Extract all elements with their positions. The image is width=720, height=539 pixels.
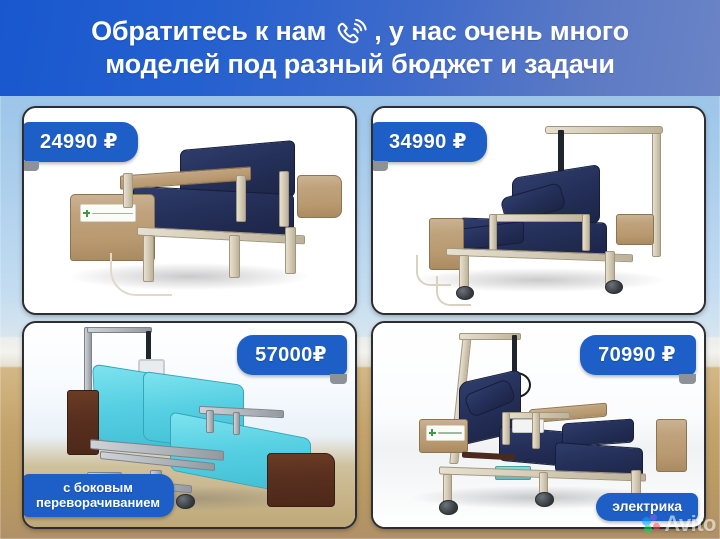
- product-card-bed-70990[interactable]: 70990 ₽ электрика: [371, 321, 706, 530]
- product-grid: 24990 ₽: [0, 96, 720, 539]
- price-tag-1: 24990 ₽: [22, 122, 138, 162]
- avito-wordmark: Avito: [664, 511, 716, 537]
- banner-line-2: моделей под разный бюджет и задачи: [10, 48, 710, 81]
- banner-text-before-icon: Обратитесь к нам: [91, 15, 326, 48]
- product-card-bed-57000[interactable]: 57000₽ с боковым переворачиванием: [22, 321, 357, 530]
- feature-caption-3: с боковым переворачиванием: [22, 474, 174, 517]
- banner-text-after-icon: , у нас очень много: [374, 15, 629, 48]
- banner-line-1: Обратитесь к нам , у нас очень много: [10, 15, 710, 48]
- avito-logo-icon: [642, 514, 662, 534]
- promo-image: Обратитесь к нам , у нас очень много мод…: [0, 0, 720, 539]
- product-card-bed-24990[interactable]: 24990 ₽: [22, 106, 357, 315]
- avito-watermark: Avito: [642, 511, 716, 537]
- price-tag-4: 70990 ₽: [580, 335, 696, 375]
- product-card-bed-34990[interactable]: 34990 ₽: [371, 106, 706, 315]
- phone-call-icon: [334, 19, 368, 49]
- price-tag-3: 57000₽: [237, 335, 347, 375]
- header-banner: Обратитесь к нам , у нас очень много мод…: [0, 0, 720, 96]
- price-tag-2: 34990 ₽: [371, 122, 487, 162]
